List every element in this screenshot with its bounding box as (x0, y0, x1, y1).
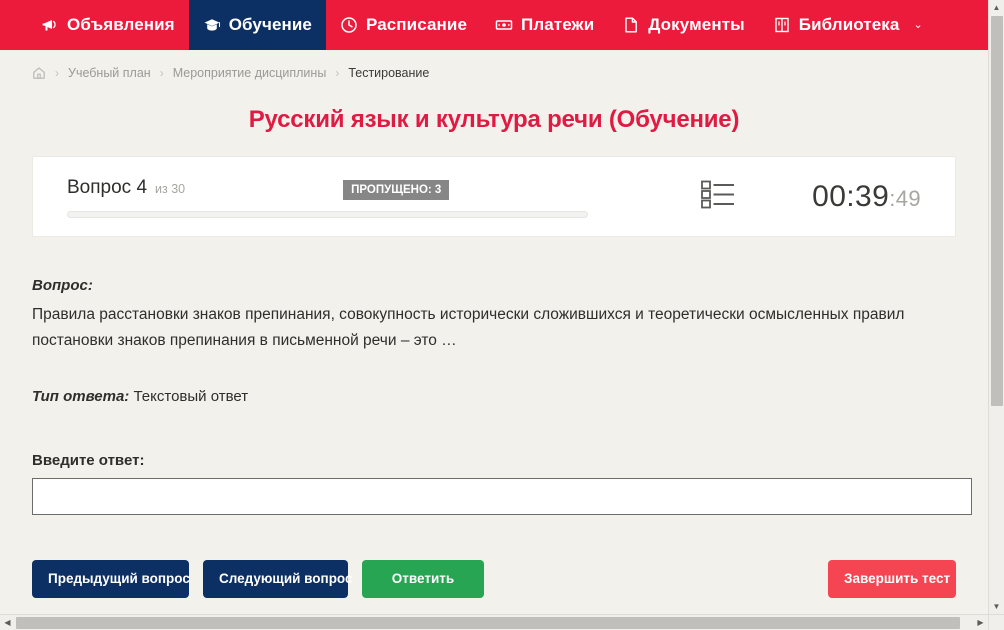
nav-label-payments: Платежи (521, 15, 594, 35)
question-number: Вопрос 4 (67, 177, 147, 199)
submit-answer-button[interactable]: Ответить (362, 560, 484, 598)
main-navigation: Объявления Обучение (0, 0, 988, 50)
scroll-left-arrow-icon[interactable]: ◀ (0, 615, 15, 630)
nav-label-education: Обучение (229, 15, 312, 35)
chevron-down-icon[interactable]: ⌄ (913, 20, 922, 31)
nav-item-library[interactable]: Библиотека ⌄ (759, 0, 937, 50)
document-icon (622, 16, 640, 34)
page-title: Русский язык и культура речи (Обучение) (0, 95, 988, 156)
scroll-up-arrow-icon[interactable]: ▲ (989, 0, 1004, 15)
content-viewport: Объявления Обучение (0, 0, 988, 614)
timer-minutes: 00:39 (812, 180, 889, 213)
status-badge-skipped: ПРОПУЩЕНО: 3 (343, 180, 449, 200)
question-list-section (623, 179, 812, 214)
answer-type-row: Тип ответа: Текстовый ответ (32, 388, 956, 405)
graduation-cap-icon (203, 16, 221, 34)
nav-label-library: Библиотека (799, 15, 900, 35)
question-progress-section: Вопрос 4 из 30 ПРОПУЩЕНО: 3 (67, 175, 623, 218)
breadcrumb-separator: › (160, 66, 164, 80)
horizontal-scrollbar-thumb[interactable] (16, 617, 960, 629)
question-prompt-label: Вопрос: (32, 277, 956, 294)
scrollbar-corner (988, 614, 1004, 630)
clock-icon (340, 16, 358, 34)
breadcrumb-separator: › (55, 66, 59, 80)
home-icon[interactable] (32, 66, 46, 80)
test-timer: 00:39:49 (812, 180, 955, 214)
question-progress-bar (67, 211, 588, 218)
question-list-icon[interactable] (701, 179, 735, 214)
book-icon (773, 16, 791, 34)
action-buttons: Предыдущий вопрос Следующий вопрос Ответ… (0, 515, 988, 598)
answer-input[interactable] (32, 478, 972, 515)
answer-input-label: Введите ответ: (32, 452, 956, 469)
finish-test-button[interactable]: Завершить тест (828, 560, 956, 598)
nav-item-documents[interactable]: Документы (608, 0, 758, 50)
answer-block: Введите ответ: (0, 405, 988, 515)
browser-page: Объявления Обучение (0, 0, 1004, 630)
vertical-scrollbar-thumb[interactable] (991, 16, 1003, 406)
question-text: Правила расстановки знаков препинания, с… (32, 302, 956, 354)
scroll-right-arrow-icon[interactable]: ▶ (973, 615, 988, 630)
timer-seconds: :49 (889, 186, 921, 211)
next-question-button[interactable]: Следующий вопрос (203, 560, 348, 598)
nav-item-announcements[interactable]: Объявления (27, 0, 189, 50)
question-title-line: Вопрос 4 из 30 ПРОПУЩЕНО: 3 (67, 177, 623, 200)
question-header-card: Вопрос 4 из 30 ПРОПУЩЕНО: 3 (32, 156, 956, 237)
vertical-scrollbar[interactable]: ▲ ▼ (988, 0, 1004, 614)
breadcrumb-item-testing: Тестирование (348, 66, 429, 80)
payment-card-icon (495, 16, 513, 34)
scroll-down-arrow-icon[interactable]: ▼ (989, 599, 1004, 614)
question-body: Вопрос: Правила расстановки знаков препи… (0, 237, 988, 405)
previous-question-button[interactable]: Предыдущий вопрос (32, 560, 189, 598)
answer-type-value: Текстовый ответ (133, 388, 248, 405)
answer-type-label: Тип ответа: (32, 388, 129, 405)
breadcrumb-item-curriculum[interactable]: Учебный план (68, 66, 151, 80)
breadcrumb-separator: › (335, 66, 339, 80)
nav-label-announcements: Объявления (67, 15, 175, 35)
nav-item-education[interactable]: Обучение (189, 0, 326, 50)
nav-label-schedule: Расписание (366, 15, 467, 35)
megaphone-icon (41, 16, 59, 34)
breadcrumb: › Учебный план › Мероприятие дисциплины … (0, 50, 988, 95)
nav-item-payments[interactable]: Платежи (481, 0, 608, 50)
horizontal-scrollbar[interactable]: ◀ ▶ (0, 614, 988, 630)
breadcrumb-item-discipline-event[interactable]: Мероприятие дисциплины (173, 66, 327, 80)
question-total: из 30 (155, 182, 185, 196)
nav-label-documents: Документы (648, 15, 744, 35)
nav-item-schedule[interactable]: Расписание (326, 0, 481, 50)
